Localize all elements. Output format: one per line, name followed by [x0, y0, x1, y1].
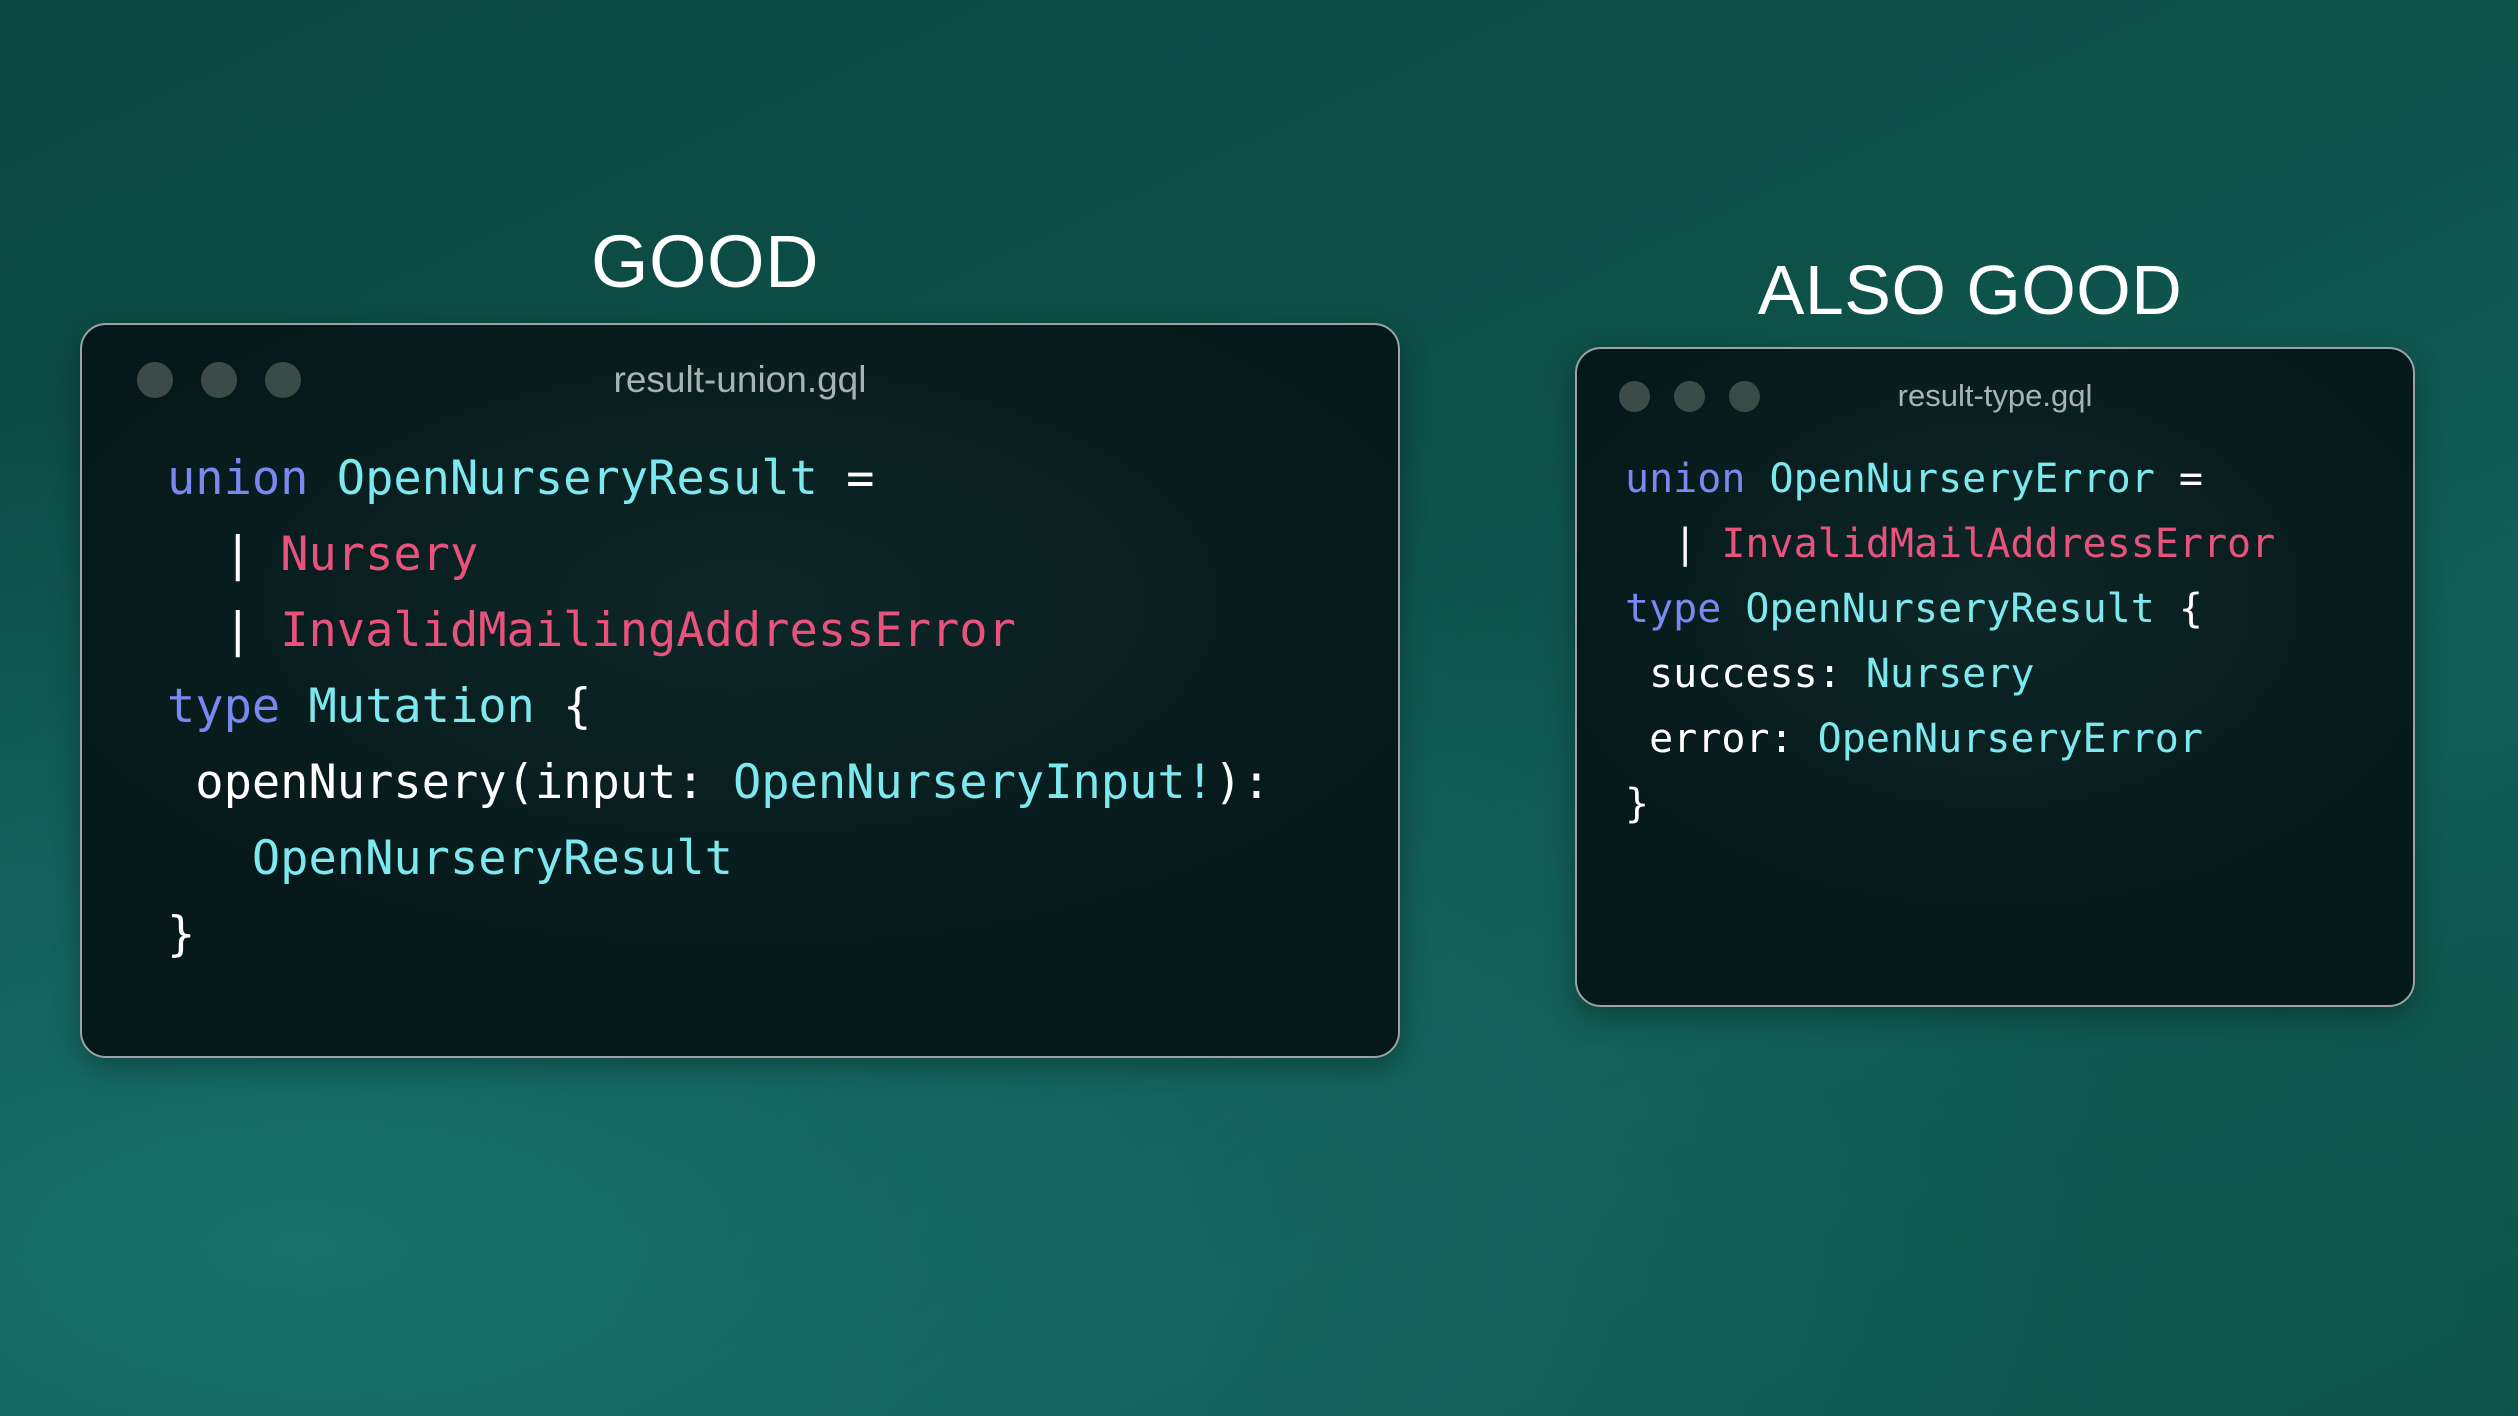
- slide-canvas: GOOD result-union.gql union OpenNurseryR…: [0, 0, 2518, 1416]
- code-line: OpenNurseryResult: [167, 821, 1398, 897]
- code-token: error:: [1625, 716, 1818, 762]
- code-token: InvalidMailingAddressError: [280, 603, 1016, 658]
- panel-title-good: GOOD: [0, 225, 1410, 299]
- filename-label-also-good: result-type.gql: [1577, 378, 2413, 414]
- code-token: }: [1625, 781, 1649, 827]
- code-line: union OpenNurseryError =: [1625, 447, 2413, 512]
- code-token: success:: [1625, 651, 1866, 697]
- code-token: =: [818, 451, 875, 506]
- code-token: union: [1625, 456, 1745, 502]
- code-token: {: [2155, 586, 2203, 632]
- code-token: [280, 679, 308, 734]
- code-window-also-good: result-type.gql union OpenNurseryError =…: [1575, 347, 2415, 1007]
- code-token: OpenNurseryResult: [337, 451, 818, 506]
- code-line: }: [1625, 772, 2413, 837]
- code-line: union OpenNurseryResult =: [167, 441, 1398, 517]
- code-line: type Mutation {: [167, 669, 1398, 745]
- code-token: Nursery: [1866, 651, 2035, 697]
- code-token: Mutation: [308, 679, 534, 734]
- code-token: union: [167, 451, 308, 506]
- code-block-good: union OpenNurseryResult = | Nursery | In…: [82, 435, 1398, 973]
- filename-label-good: result-union.gql: [82, 359, 1398, 401]
- panel-title-also-good: ALSO GOOD: [1530, 255, 2410, 325]
- code-token: }: [167, 907, 195, 962]
- code-line: }: [167, 897, 1398, 973]
- code-token: [167, 831, 252, 886]
- code-token: =: [2155, 456, 2203, 502]
- code-token: type: [1625, 586, 1721, 632]
- code-window-good: result-union.gql union OpenNurseryResult…: [80, 323, 1400, 1058]
- code-line: type OpenNurseryResult {: [1625, 577, 2413, 642]
- code-token: OpenNurseryError: [1818, 716, 2203, 762]
- panel-group-good: GOOD result-union.gql union OpenNurseryR…: [0, 225, 1460, 1058]
- code-token: [1721, 586, 1745, 632]
- code-line: | InvalidMailingAddressError: [167, 593, 1398, 669]
- code-token: |: [167, 603, 280, 658]
- code-token: type: [167, 679, 280, 734]
- code-line: error: OpenNurseryError: [1625, 707, 2413, 772]
- code-token: OpenNurseryInput!: [733, 755, 1214, 810]
- code-token: |: [167, 527, 280, 582]
- code-token: [308, 451, 336, 506]
- code-line: | InvalidMailAddressError: [1625, 512, 2413, 577]
- code-token: ):: [1214, 755, 1271, 810]
- titlebar-good: result-union.gql: [82, 325, 1398, 435]
- code-token: OpenNurseryResult: [1745, 586, 2154, 632]
- code-token: OpenNurseryError: [1770, 456, 2155, 502]
- panel-group-also-good: ALSO GOOD result-type.gql union OpenNurs…: [1530, 255, 2450, 1007]
- code-token: {: [535, 679, 592, 734]
- code-line: openNursery(input: OpenNurseryInput!):: [167, 745, 1398, 821]
- titlebar-also-good: result-type.gql: [1577, 349, 2413, 443]
- code-token: |: [1625, 521, 1721, 567]
- code-token: InvalidMailAddressError: [1721, 521, 2275, 567]
- code-token: Nursery: [280, 527, 478, 582]
- code-line: success: Nursery: [1625, 642, 2413, 707]
- code-token: openNursery(input:: [167, 755, 733, 810]
- code-token: [1745, 456, 1769, 502]
- code-line: | Nursery: [167, 517, 1398, 593]
- code-token: OpenNurseryResult: [252, 831, 733, 886]
- code-block-also-good: union OpenNurseryError = | InvalidMailAd…: [1577, 443, 2413, 837]
